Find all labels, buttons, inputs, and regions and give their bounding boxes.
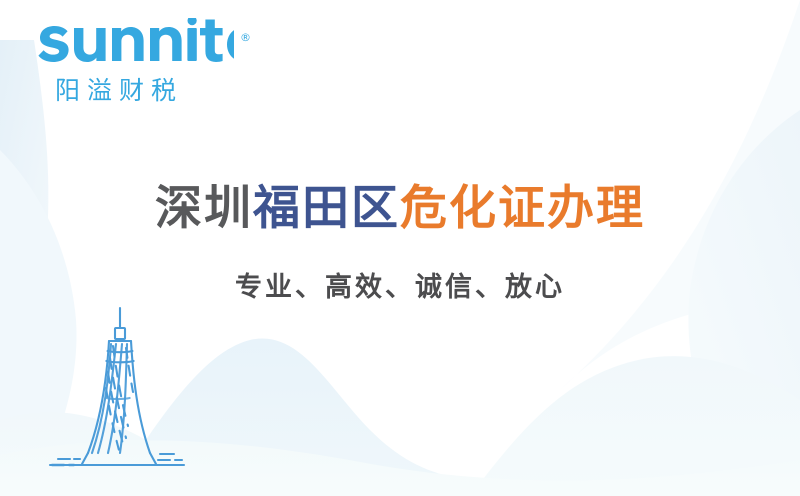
canton-tower-icon (36, 306, 226, 486)
bg-hill-right (470, 356, 800, 496)
promo-banner: ® 阳溢财税 深圳福田区危化证办理 专业、高效、诚信、放心 (0, 0, 800, 496)
headline-service: 危化证办理 (400, 181, 645, 236)
brand-logo: ® 阳溢财税 (34, 18, 274, 114)
sunnite-wordmark-icon (34, 18, 234, 70)
headline-district: 福田区 (253, 181, 400, 236)
registered-trademark-icon: ® (240, 32, 251, 43)
logo-subtitle: 阳溢财税 (55, 75, 183, 107)
page-subtitle: 专业、高效、诚信、放心 (0, 268, 800, 308)
page-title: 深圳福田区危化证办理 (0, 179, 800, 239)
headline-city: 深圳 (155, 181, 253, 236)
